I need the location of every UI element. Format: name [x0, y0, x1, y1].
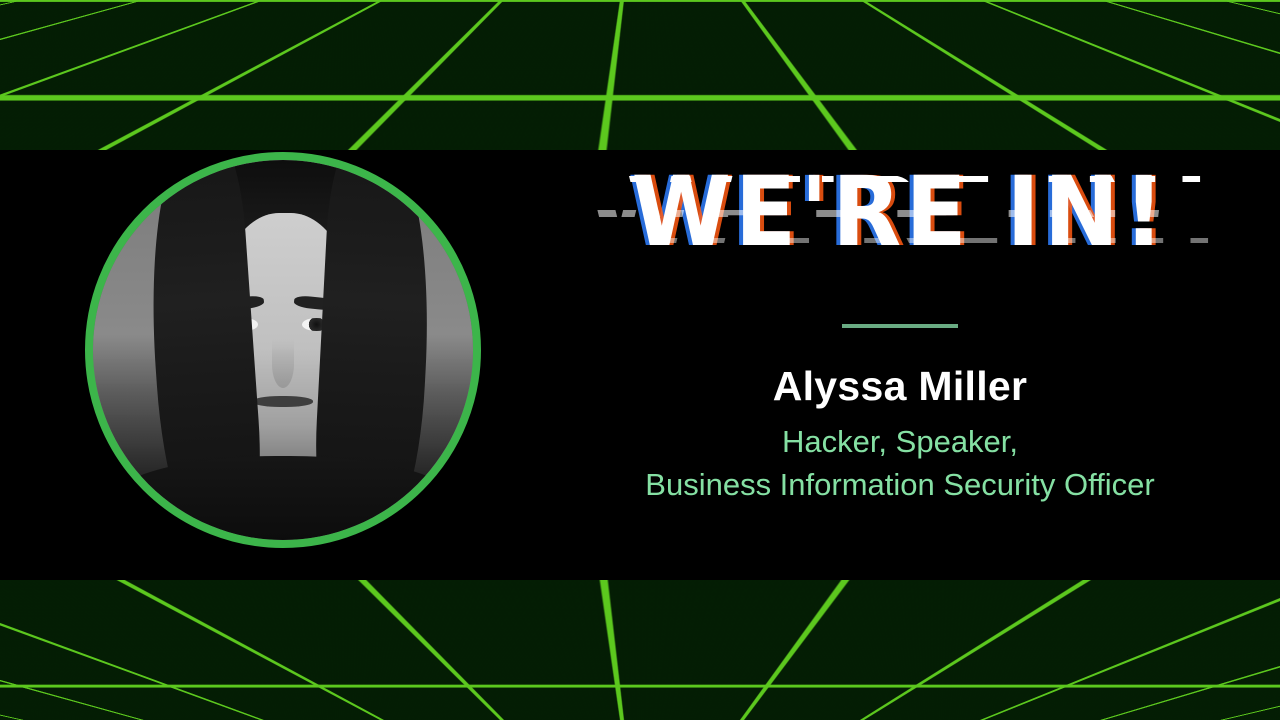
avatar-nose — [272, 339, 295, 388]
speaker-name: Alyssa Miller — [520, 364, 1280, 409]
slide-content: WE'RE IN! WE'RE IN! WE'RE IN! WE'RE IN! … — [520, 150, 1280, 570]
avatar-mouth — [253, 396, 314, 407]
glitch-title: WE'RE IN! WE'RE IN! WE'RE IN! WE'RE IN! … — [520, 150, 1280, 290]
grid-fade-bottom — [0, 580, 1280, 720]
avatar-photo — [93, 160, 473, 540]
speaker-title-line-2: Business Information Security Officer — [520, 464, 1280, 507]
speaker-title: Hacker, Speaker, Business Information Se… — [520, 421, 1280, 507]
grid-background-bottom — [0, 580, 1280, 720]
grid-fade-top — [0, 0, 1280, 150]
slide-title: WE'RE IN! — [505, 164, 1280, 260]
grid-background-top — [0, 0, 1280, 150]
avatar-shoulders — [108, 456, 458, 540]
presentation-slide: WE'RE IN! WE'RE IN! WE'RE IN! WE'RE IN! … — [0, 0, 1280, 720]
speaker-title-line-1: Hacker, Speaker, — [520, 421, 1280, 464]
divider — [842, 324, 958, 328]
avatar — [85, 152, 481, 548]
